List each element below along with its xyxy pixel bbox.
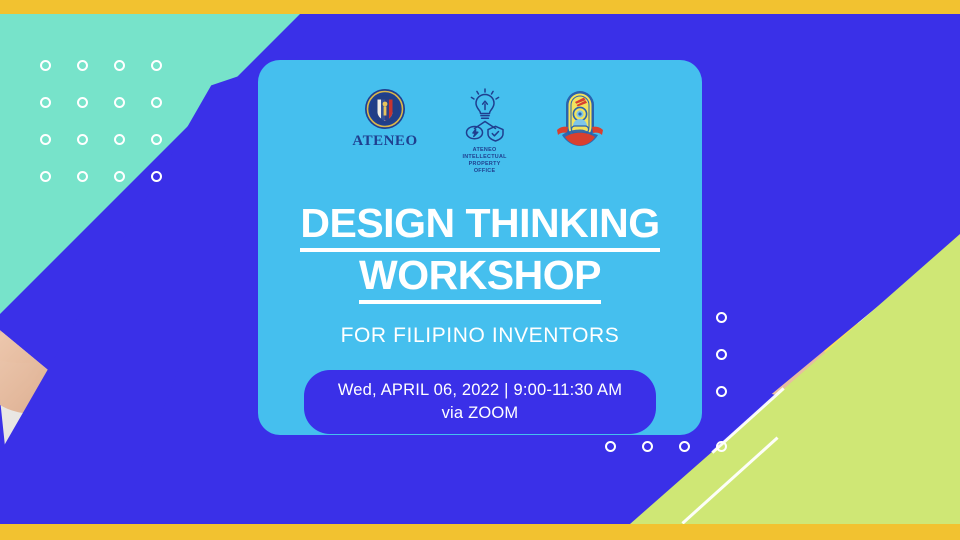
ateneo-seal-icon [364, 88, 406, 130]
dot [679, 441, 690, 452]
dot [40, 134, 51, 145]
event-card: ATENEO [258, 60, 702, 435]
dot [605, 441, 616, 452]
logo-row: ATENEO [352, 88, 607, 184]
dot [40, 171, 51, 182]
dot [77, 97, 88, 108]
ateneo-ip-office-lightbulb-icon [454, 88, 516, 144]
dot-row-bottom [605, 441, 753, 478]
logo-ateneo-ip-office: ATENEOINTELLECTUALPROPERTYOFFICE [454, 88, 516, 175]
dot [114, 60, 125, 71]
title-line-1: DESIGN THINKING [300, 200, 659, 252]
bottom-yellow-bar [0, 524, 960, 540]
page-title: DESIGN THINKING WORKSHOP [300, 200, 659, 304]
logo-ateneo: ATENEO [352, 88, 417, 150]
dot [716, 386, 727, 397]
dot-grid-top-left [40, 60, 188, 208]
poster-canvas: ATENEO [0, 0, 960, 540]
schedule-date-time: Wed, APRIL 06, 2022 | 9:00-11:30 AM [338, 379, 622, 402]
dot [40, 60, 51, 71]
dot [77, 171, 88, 182]
logo-ateneo-caption: ATENEO [352, 133, 417, 150]
dot [151, 60, 162, 71]
dot [642, 441, 653, 452]
dot [151, 171, 162, 182]
dot [716, 349, 727, 360]
subtitle: FOR FILIPINO INVENTORS [341, 324, 620, 348]
dot-column-right [716, 312, 753, 423]
dot [114, 134, 125, 145]
logo-ateneo-ip-office-caption: ATENEOINTELLECTUALPROPERTYOFFICE [462, 147, 506, 175]
dot [114, 171, 125, 182]
top-yellow-bar [0, 0, 960, 14]
dot [716, 312, 727, 323]
dot [151, 97, 162, 108]
dot [40, 97, 51, 108]
dot [716, 441, 727, 452]
dot [77, 134, 88, 145]
title-line-2: WORKSHOP [359, 252, 601, 304]
dot [151, 134, 162, 145]
schedule-platform: via ZOOM [338, 402, 622, 425]
dot [77, 60, 88, 71]
schedule-badge: Wed, APRIL 06, 2022 | 9:00-11:30 AM via … [304, 370, 656, 434]
dost-seal-icon [552, 88, 608, 150]
dot [114, 97, 125, 108]
logo-dost [552, 88, 608, 150]
